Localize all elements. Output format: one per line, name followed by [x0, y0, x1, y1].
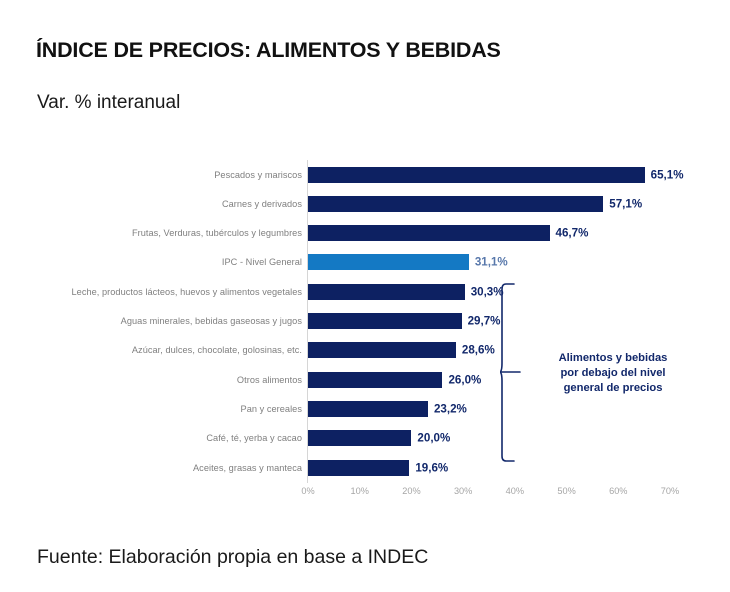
- bar: [308, 225, 550, 241]
- bar-value-label: 28,6%: [462, 344, 495, 357]
- source-note: Fuente: Elaboración propia en base a IND…: [37, 546, 428, 569]
- bar-row: IPC - Nivel General31,1%: [0, 248, 730, 277]
- bar-value-label: 30,3%: [471, 285, 504, 298]
- bar-row: Café, té, yerba y cacao20,0%: [0, 424, 730, 453]
- annotation-text: Alimentos y bebidas por debajo del nivel…: [538, 351, 688, 396]
- bar-value-label: 57,1%: [609, 197, 642, 210]
- bar-category-label: IPC - Nivel General: [222, 257, 302, 267]
- bar-value-label: 19,6%: [415, 461, 448, 474]
- bar-row: Aguas minerales, bebidas gaseosas y jugo…: [0, 307, 730, 336]
- bar-chart-plot-area: Pescados y mariscos65,1%Carnes y derivad…: [0, 0, 730, 592]
- bar: [308, 430, 411, 446]
- bar-category-label: Azúcar, dulces, chocolate, golosinas, et…: [132, 345, 302, 355]
- bar-row: Pan y cereales23,2%: [0, 394, 730, 423]
- bar-category-label: Frutas, Verduras, tubérculos y legumbres: [132, 228, 302, 238]
- bar-category-label: Pan y cereales: [241, 404, 302, 414]
- bar-category-label: Carnes y derivados: [222, 199, 302, 209]
- bracket-annotation-icon: [500, 283, 522, 463]
- x-axis-tick-label: 40%: [506, 486, 524, 496]
- bar: [308, 313, 462, 329]
- bar-row: Leche, productos lácteos, huevos y alime…: [0, 277, 730, 306]
- bar: [308, 284, 465, 300]
- bar: [308, 254, 469, 270]
- bar-value-label: 46,7%: [556, 227, 589, 240]
- x-axis-tick-label: 60%: [609, 486, 627, 496]
- bar-category-label: Otros alimentos: [237, 375, 302, 385]
- bar-category-label: Pescados y mariscos: [214, 170, 302, 180]
- x-axis-tick-label: 0%: [301, 486, 314, 496]
- bar: [308, 401, 428, 417]
- annotation-line-2: por debajo del nivel: [538, 366, 688, 381]
- x-axis-tick-label: 50%: [557, 486, 575, 496]
- bar-category-label: Aguas minerales, bebidas gaseosas y jugo…: [121, 316, 302, 326]
- bar-value-label: 31,1%: [475, 256, 508, 269]
- bar-row: Pescados y mariscos65,1%: [0, 160, 730, 189]
- x-axis-tick-label: 30%: [454, 486, 472, 496]
- bar: [308, 460, 409, 476]
- x-axis-tick-label: 10%: [351, 486, 369, 496]
- bar-value-label: 23,2%: [434, 402, 467, 415]
- annotation-line-1: Alimentos y bebidas: [538, 351, 688, 366]
- x-axis-tick-label: 20%: [402, 486, 420, 496]
- bar-value-label: 20,0%: [417, 432, 450, 445]
- bar: [308, 342, 456, 358]
- bar-value-label: 29,7%: [468, 315, 501, 328]
- bar-category-label: Leche, productos lácteos, huevos y alime…: [72, 287, 302, 297]
- bar-row: Frutas, Verduras, tubérculos y legumbres…: [0, 219, 730, 248]
- bar-value-label: 65,1%: [651, 168, 684, 181]
- bar-category-label: Aceites, grasas y manteca: [193, 463, 302, 473]
- x-axis-tick-label: 70%: [661, 486, 679, 496]
- annotation-line-3: general de precios: [538, 381, 688, 396]
- bar-row: Carnes y derivados57,1%: [0, 189, 730, 218]
- bar: [308, 372, 442, 388]
- bar: [308, 167, 645, 183]
- bar-value-label: 26,0%: [448, 373, 481, 386]
- bar-row: Aceites, grasas y manteca19,6%: [0, 453, 730, 482]
- bar: [308, 196, 603, 212]
- bar-category-label: Café, té, yerba y cacao: [206, 433, 302, 443]
